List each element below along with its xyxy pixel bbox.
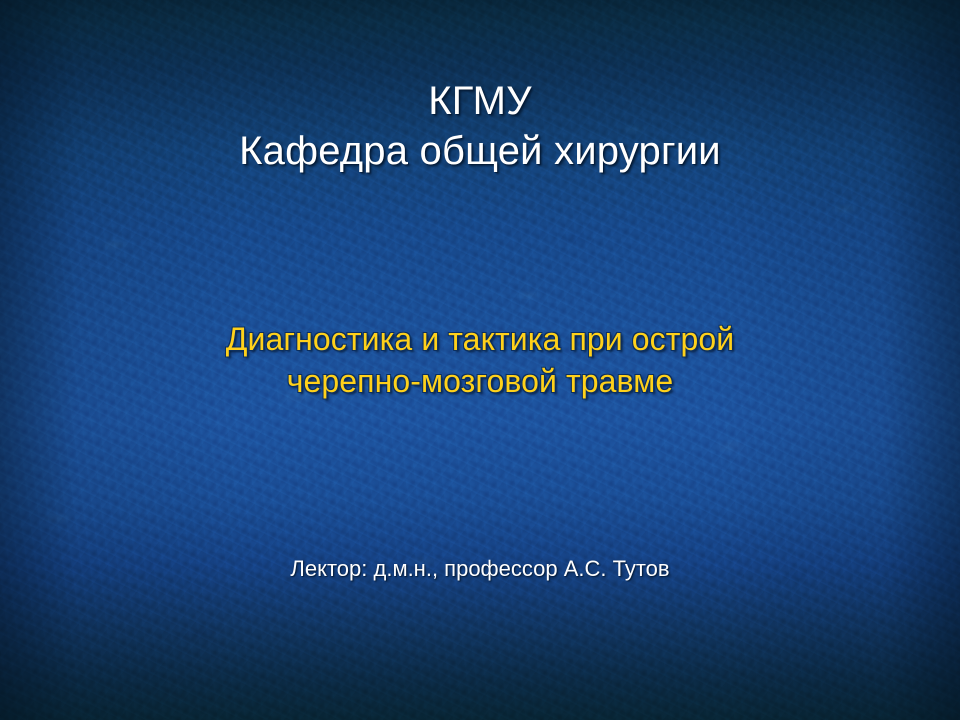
subtitle-line-1: Диагностика и тактика при острой [0, 318, 960, 360]
presentation-slide: КГМУ Кафедра общей хирургии Диагностика … [0, 0, 960, 720]
author-line-1: Лектор: д.м.н., профессор А.С. Тутов [0, 554, 960, 584]
title-line-2: Кафедра общей хирургии [0, 126, 960, 176]
slide-author: Лектор: д.м.н., профессор А.С. Тутов [0, 554, 960, 584]
slide-title: КГМУ Кафедра общей хирургии [0, 76, 960, 176]
slide-content: КГМУ Кафедра общей хирургии Диагностика … [0, 0, 960, 720]
slide-subtitle: Диагностика и тактика при острой черепно… [0, 318, 960, 402]
subtitle-line-2: черепно-мозговой травме [0, 360, 960, 402]
title-line-1: КГМУ [0, 76, 960, 126]
